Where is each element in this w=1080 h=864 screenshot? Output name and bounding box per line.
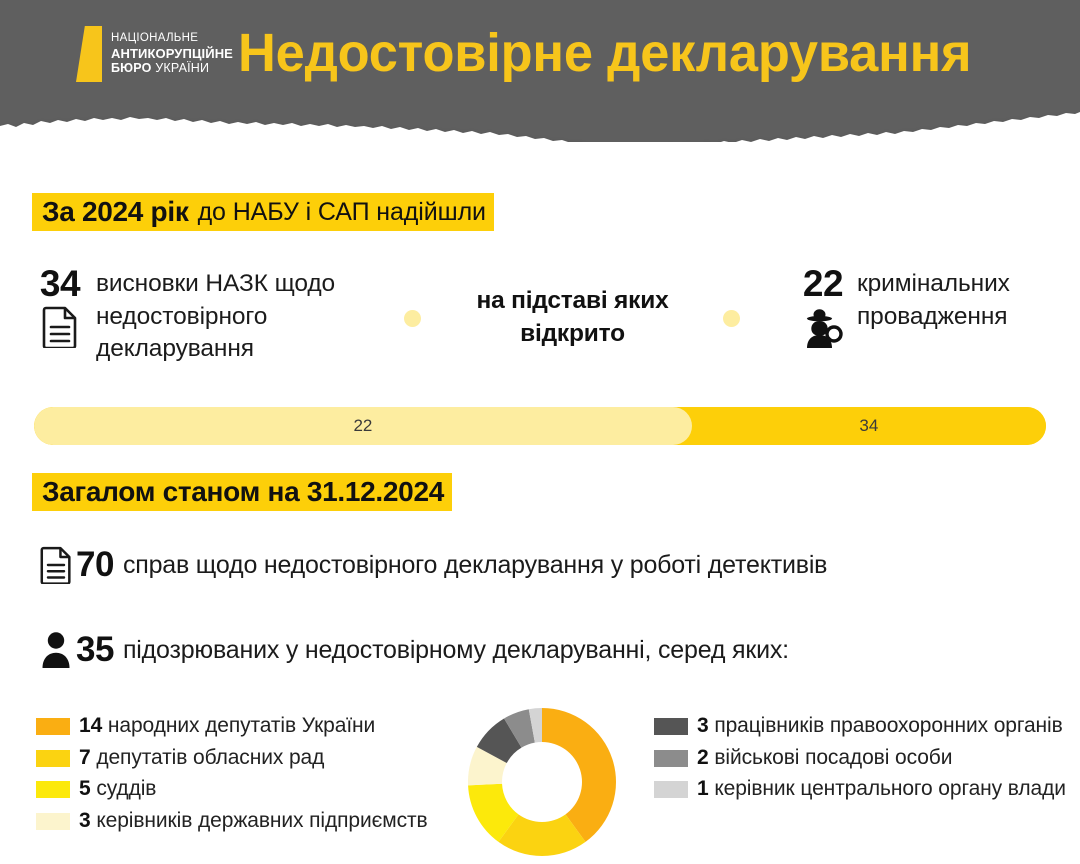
torn-paper-edge (0, 96, 1080, 142)
legend-label: 3 керівників державних підприємств (79, 807, 428, 835)
logo-line-3: БЮРО УКРАЇНИ (111, 61, 233, 76)
total-suspects-number: 35 (76, 630, 114, 670)
progress-segment-34: 34 (692, 407, 1046, 445)
total-suspects-line: 35 підозрюваних у недостовірному деклару… (36, 630, 789, 670)
legend-item: 7 депутатів обласних рад (36, 744, 466, 772)
legend-item: 3 працівників правоохоронних органів (654, 712, 1074, 740)
stat-left-text: висновки НАЗК щодо недостовірного деклар… (96, 268, 366, 366)
separator-dot-left (404, 310, 421, 327)
legend-swatch (36, 813, 70, 830)
legend-label: 7 депутатів обласних рад (79, 744, 324, 772)
logo-line-3-bold: БЮРО (111, 61, 152, 75)
logo-text: НАЦІОНАЛЬНЕ АНТИКОРУПЦІЙНЕ БЮРО УКРАЇНИ (111, 32, 233, 76)
legend-swatch (654, 718, 688, 735)
legend-item: 14 народних депутатів України (36, 712, 466, 740)
legend-item: 3 керівників державних підприємств (36, 807, 466, 835)
legend-swatch (36, 718, 70, 735)
page-title: Недостовірне декларування (238, 22, 971, 84)
legend-right: 3 працівників правоохоронних органів2 ві… (654, 712, 1074, 807)
stat-nazk-conclusions: 34 висновки НАЗК щодо недостовірного дек… (32, 266, 366, 366)
legend-swatch (36, 781, 70, 798)
legend-swatch (654, 781, 688, 798)
donut-chart (466, 706, 618, 858)
legend-count: 1 (697, 777, 709, 800)
total-cases-number: 70 (76, 545, 114, 585)
progress-bar: 22 34 (34, 407, 1046, 445)
stat-right-numicon: 22 (795, 266, 851, 355)
legend-label: 14 народних депутатів України (79, 712, 375, 740)
legend-count: 2 (697, 746, 709, 769)
stat-middle-text: на підставі яких відкрито (440, 284, 705, 351)
separator-dot-right (723, 310, 740, 327)
stat-left-numicon: 34 (32, 266, 88, 353)
person-icon (36, 631, 76, 669)
legend-item: 2 військові посадові особи (654, 744, 1074, 772)
logo-line-3-light: УКРАЇНИ (155, 61, 209, 75)
progress-segment-22: 22 (34, 407, 692, 445)
document-icon (36, 546, 76, 584)
stat-right-text: кримінальних провадження (857, 268, 1080, 333)
logo-mark-icon (76, 26, 102, 82)
stat-right-number: 22 (803, 266, 843, 302)
detective-icon (801, 306, 845, 355)
legend-swatch (654, 750, 688, 767)
legend-count: 7 (79, 746, 91, 769)
stat-criminal-proceedings: 22 кримінальних провадження (795, 266, 1080, 355)
banner-total-as-of: Загалом станом на 31.12.2024 (32, 473, 452, 511)
banner-year-2024: За 2024 рік до НАБУ і САП надійшли (32, 193, 494, 231)
banner-total-text: Загалом станом на 31.12.2024 (42, 476, 444, 508)
legend-label: 5 суддів (79, 775, 156, 803)
stat-left-number: 34 (40, 266, 80, 302)
total-suspects-text: підозрюваних у недостовірному декларуван… (123, 636, 789, 665)
legend-count: 3 (697, 714, 709, 737)
logo-line-1: НАЦІОНАЛЬНЕ (111, 32, 233, 46)
legend-label: 3 працівників правоохоронних органів (697, 712, 1063, 740)
logo-line-2: АНТИКОРУПЦІЙНЕ (111, 46, 233, 61)
page-header: НАЦІОНАЛЬНЕ АНТИКОРУПЦІЙНЕ БЮРО УКРАЇНИ … (0, 0, 1080, 142)
legend-left: 14 народних депутатів України7 депутатів… (36, 712, 466, 839)
total-cases-text: справ щодо недостовірного декларування у… (123, 551, 827, 580)
banner-2024-strong: За 2024 рік (42, 196, 189, 228)
legend-swatch (36, 750, 70, 767)
total-cases-line: 70 справ щодо недостовірного декларуванн… (36, 545, 827, 585)
legend-count: 5 (79, 777, 91, 800)
legend-label: 2 військові посадові особи (697, 744, 952, 772)
banner-2024-light: до НАБУ і САП надійшли (198, 198, 486, 227)
legend-item: 1 керівник центрального органу влади (654, 775, 1074, 803)
legend-count: 3 (79, 809, 91, 832)
stat-row-2024: 34 висновки НАЗК щодо недостовірного дек… (0, 262, 1080, 387)
legend-label: 1 керівник центрального органу влади (697, 775, 1066, 803)
document-icon (42, 306, 78, 353)
legend-item: 5 суддів (36, 775, 466, 803)
legend-count: 14 (79, 714, 102, 737)
nabu-logo: НАЦІОНАЛЬНЕ АНТИКОРУПЦІЙНЕ БЮРО УКРАЇНИ (76, 26, 233, 82)
